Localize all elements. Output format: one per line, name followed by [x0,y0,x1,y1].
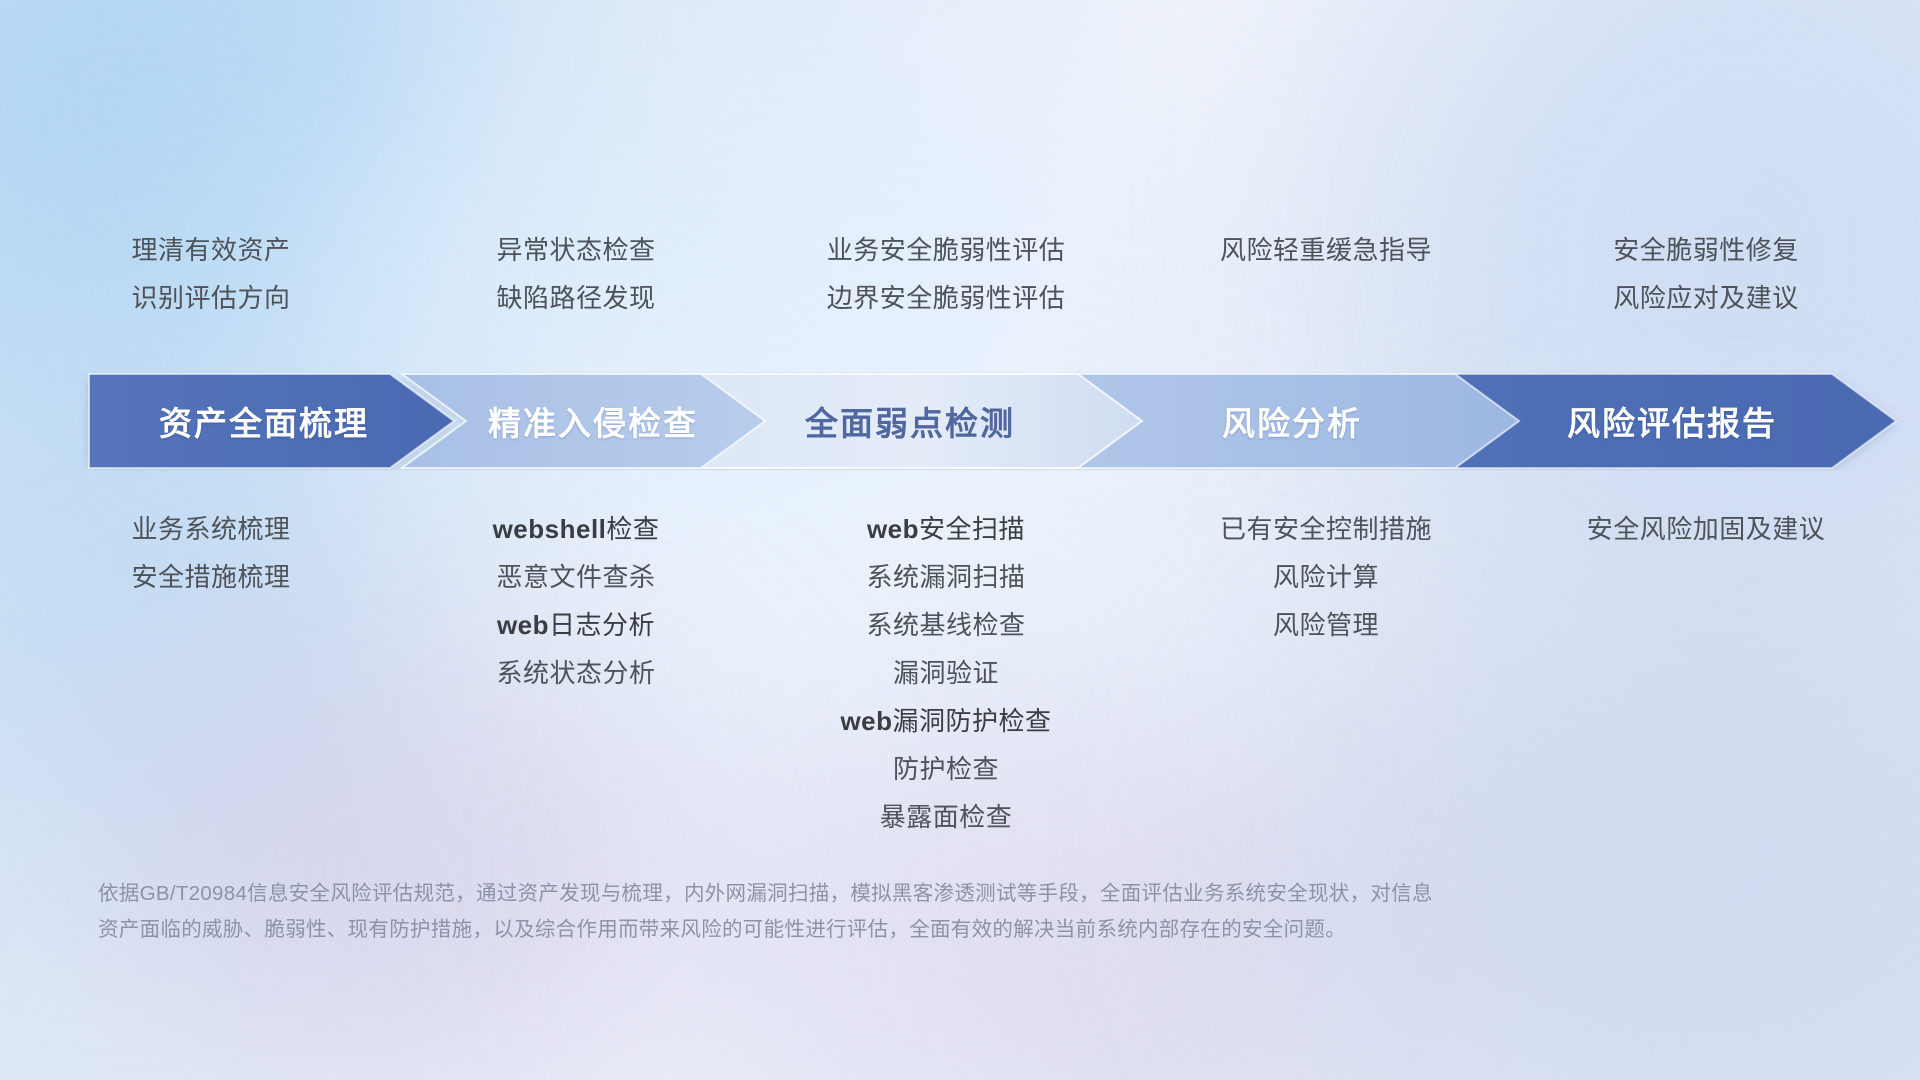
bottom-labels-risk-report: 安全风险加固及建议 [1512,505,1900,553]
cjk-text: 日志分析 [549,610,655,640]
bottom-label: 业务系统梳理 [22,505,400,553]
top-label: 风险应对及建议 [1512,274,1900,322]
bottom-label: 暴露面检查 [752,793,1140,841]
top-labels-asset-inventory: 理清有效资产 识别评估方向 [22,226,400,326]
top-label: 安全脆弱性修复 [1512,226,1900,274]
bottom-label: 系统状态分析 [400,649,752,697]
cjk-text: 漏洞防护检查 [893,706,1052,736]
bottom-label: web漏洞防护检查 [752,697,1140,745]
footer-line-1: 依据GB/T20984信息安全风险评估规范，通过资产发现与梳理，内外网漏洞扫描，… [98,876,1738,912]
latin-prefix: web [497,610,549,640]
bottom-labels-asset-inventory: 业务系统梳理 安全措施梳理 [22,505,400,601]
bottom-labels-risk-analysis: 已有安全控制措施 风险计算 风险管理 [1140,505,1512,649]
bottom-label-row: 业务系统梳理 安全措施梳理 webshell检查 恶意文件查杀 web日志分析 … [0,505,1920,845]
top-label-row: 理清有效资产 识别评估方向 异常状态检查 缺陷路径发现 业务安全脆弱性评估 边界… [0,226,1920,326]
top-label: 识别评估方向 [22,274,400,322]
bottom-label: 漏洞验证 [752,649,1140,697]
cjk-text: 检查 [606,514,659,544]
top-label: 理清有效资产 [22,226,400,274]
footer-description: 依据GB/T20984信息安全风险评估规范，通过资产发现与梳理，内外网漏洞扫描，… [98,876,1738,948]
top-label: 缺陷路径发现 [400,274,752,322]
bottom-label: 系统漏洞扫描 [752,553,1140,601]
top-labels-weakness-detection: 业务安全脆弱性评估 边界安全脆弱性评估 [752,226,1140,326]
cjk-text: 安全扫描 [919,514,1025,544]
process-chevron-band [0,372,1920,470]
top-labels-intrusion-check: 异常状态检查 缺陷路径发现 [400,226,752,326]
top-label: 风险轻重缓急指导 [1140,226,1512,274]
bottom-labels-weakness-detection: web安全扫描 系统漏洞扫描 系统基线检查 漏洞验证 web漏洞防护检查 防护检… [752,505,1140,841]
latin-prefix: web [867,514,919,544]
bottom-label: web安全扫描 [752,505,1140,553]
top-labels-risk-report: 安全脆弱性修复 风险应对及建议 [1512,226,1900,326]
latin-prefix: webshell [493,514,607,544]
chevron-shape-asset-inventory [89,374,454,468]
bottom-label: 安全措施梳理 [22,553,400,601]
bottom-label: web日志分析 [400,601,752,649]
bottom-label: 已有安全控制措施 [1140,505,1512,553]
bottom-label: 安全风险加固及建议 [1512,505,1900,553]
top-labels-risk-analysis: 风险轻重缓急指导 [1140,226,1512,326]
latin-prefix: web [840,706,892,736]
bottom-label: 防护检查 [752,745,1140,793]
top-label: 边界安全脆弱性评估 [752,274,1140,322]
bottom-label: 风险计算 [1140,553,1512,601]
bottom-labels-intrusion-check: webshell检查 恶意文件查杀 web日志分析 系统状态分析 [400,505,752,697]
bottom-label: webshell检查 [400,505,752,553]
bottom-label: 风险管理 [1140,601,1512,649]
top-label: 异常状态检查 [400,226,752,274]
footer-line-2: 资产面临的威胁、脆弱性、现有防护措施，以及综合作用而带来风险的可能性进行评估，全… [98,912,1738,948]
bottom-label: 恶意文件查杀 [400,553,752,601]
chevron-shape-intrusion-check [402,374,765,468]
bottom-label: 系统基线检查 [752,601,1140,649]
top-label: 业务安全脆弱性评估 [752,226,1140,274]
